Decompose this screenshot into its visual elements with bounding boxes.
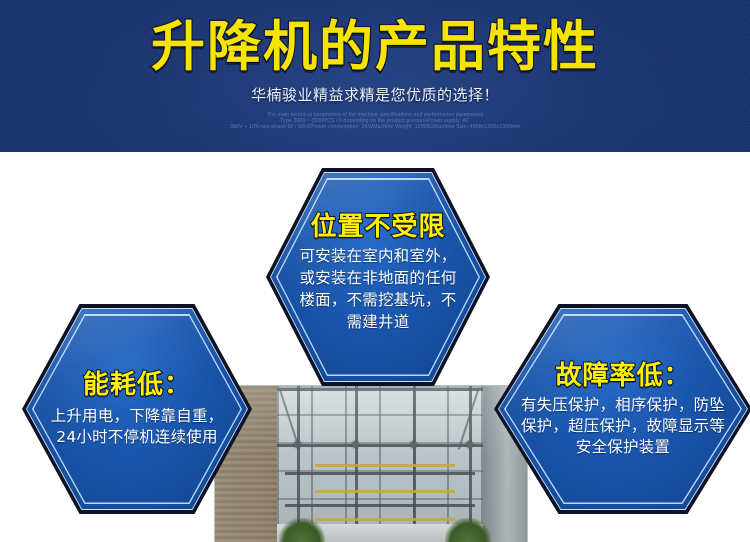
feature-heading: 位置不受限 (310, 212, 445, 242)
feature-hex-low-failure-rate[interactable]: 故障率低： 有失压保护，相序保护，防坠保护，超压保护，故障显示等安全保护装置 (494, 304, 750, 514)
fine-print-line-3: 380V + 10% two-phase 50 / 60HZPower cons… (0, 124, 750, 130)
hex-content: 故障率低： 有失压保护，相序保护，防坠保护，超压保护，故障显示等安全保护装置 (494, 304, 750, 514)
page-subtitle: 华楠骏业精益求精是您优质的选择！ (0, 86, 750, 105)
hex-content: 位置不受限 可安装在室内和室外，或安装在非地面的任何楼面，不需挖基坑，不需建井道 (266, 168, 490, 386)
promo-banner: 升降机的产品特性 华楠骏业精益求精是您优质的选择！ The main techn… (0, 0, 750, 542)
feature-hex-position-unrestricted[interactable]: 位置不受限 可安装在室内和室外，或安装在非地面的任何楼面，不需挖基坑，不需建井道 (266, 168, 490, 386)
page-title: 升降机的产品特性 (0, 18, 750, 76)
feature-heading: 故障率低： (555, 361, 690, 391)
feature-body: 上升用电，下降靠自重，24小时不停机连续使用 (50, 406, 224, 448)
product-photo (215, 386, 527, 542)
banner-header: 升降机的产品特性 华楠骏业精益求精是您优质的选择！ The main techn… (0, 0, 750, 152)
photo-haze (215, 386, 527, 542)
feature-body: 可安装在室内和室外，或安装在非地面的任何楼面，不需挖基坑，不需建井道 (292, 245, 464, 333)
hex-content: 能耗低： 上升用电，下降靠自重，24小时不停机连续使用 (22, 304, 252, 514)
feature-body: 有失压保护，相序保护，防坠保护，超压保护，故障显示等安全保护装置 (520, 395, 726, 458)
feature-hex-low-energy-consumption[interactable]: 能耗低： 上升用电，下降靠自重，24小时不停机连续使用 (22, 304, 252, 514)
feature-heading: 能耗低： (83, 370, 191, 400)
